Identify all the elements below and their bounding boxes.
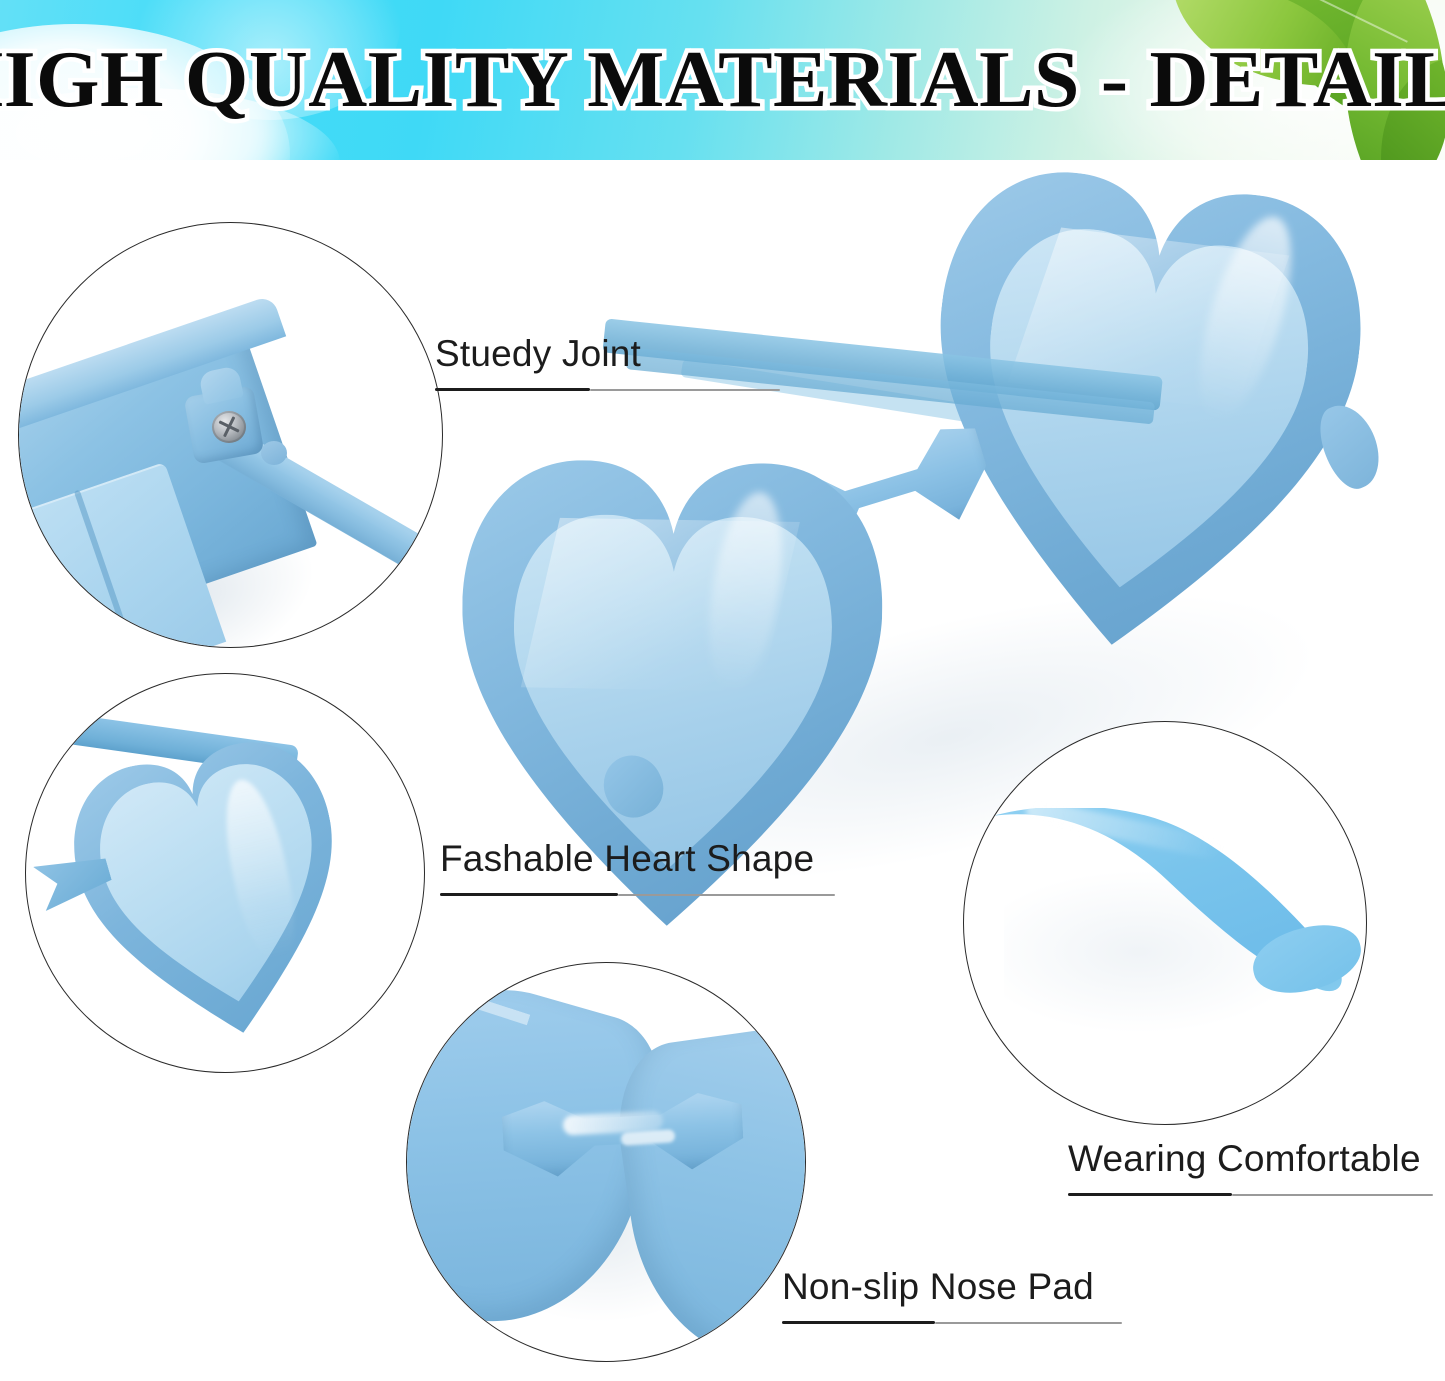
callout-label-joint: Stuedy Joint — [435, 335, 780, 392]
label-underline-light — [618, 894, 835, 896]
callout-label-heart-shape: Fashable Heart Shape — [440, 840, 835, 897]
header-banner: HIGH QUALITY MATERIALS - DETAILS — [0, 0, 1445, 160]
callout-label-text: Fashable Heart Shape — [440, 840, 835, 879]
product-photo-main — [430, 195, 1395, 815]
callout-label-wearing-comfortable: Wearing Comfortable — [1068, 1140, 1433, 1197]
callout-label-text: Stuedy Joint — [435, 335, 780, 374]
detail-circle-joint — [18, 222, 443, 648]
label-underline-light — [935, 1322, 1122, 1324]
label-underline — [435, 387, 780, 392]
label-underline-dark — [435, 388, 590, 391]
detail-circle-nose-pad — [406, 962, 806, 1362]
label-underline — [1068, 1192, 1433, 1197]
label-underline — [782, 1320, 1122, 1325]
page-title: HIGH QUALITY MATERIALS - DETAILS — [0, 0, 1445, 160]
hinge-nub — [261, 441, 287, 465]
label-underline-dark — [782, 1321, 935, 1324]
label-underline-light — [590, 389, 780, 391]
detail-circle-wearing-comfortable — [963, 721, 1367, 1125]
callout-label-nose-pad: Non-slip Nose Pad — [782, 1268, 1122, 1325]
callout-label-text: Wearing Comfortable — [1068, 1140, 1433, 1179]
label-underline-dark — [440, 893, 618, 896]
label-underline-dark — [1068, 1193, 1232, 1196]
callout-label-text: Non-slip Nose Pad — [782, 1268, 1122, 1307]
screw-icon — [212, 411, 246, 443]
detail-circle-heart-shape — [25, 673, 425, 1073]
label-underline — [440, 892, 835, 897]
label-underline-light — [1232, 1194, 1433, 1196]
infographic-page: HIGH QUALITY MATERIALS - DETAILS — [0, 0, 1445, 1381]
